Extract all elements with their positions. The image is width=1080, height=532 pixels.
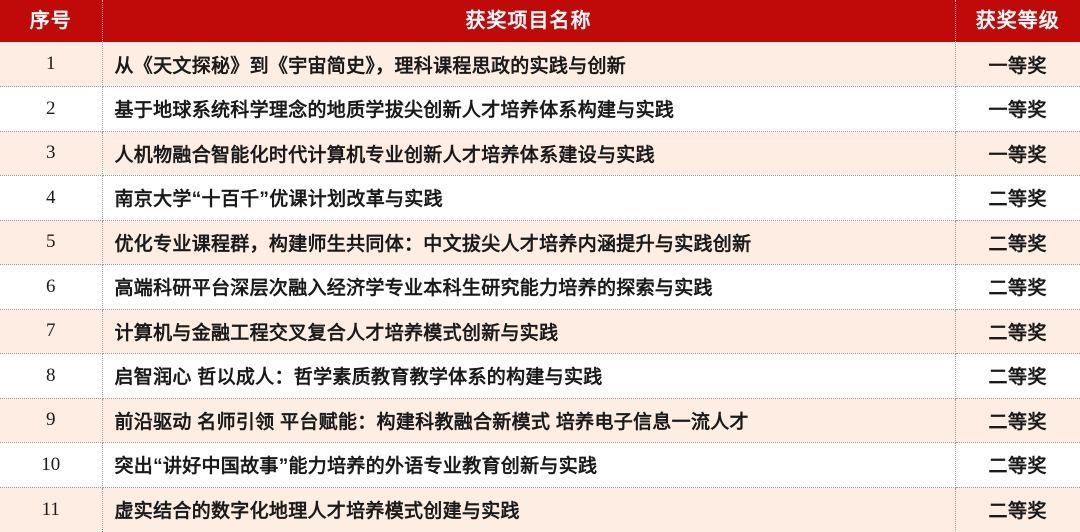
cell-index: 3	[0, 131, 102, 176]
table-row: 2基于地球系统科学理念的地质学拔尖创新人才培养体系构建与实践一等奖	[0, 87, 1080, 132]
table-row: 5优化专业课程群，构建师生共同体：中文拔尖人才培养内涵提升与实践创新二等奖	[0, 220, 1080, 265]
cell-project-name: 突出“讲好中国故事”能力培养的外语专业教育创新与实践	[102, 443, 955, 488]
table-row: 3人机物融合智能化时代计算机专业创新人才培养体系建设与实践一等奖	[0, 131, 1080, 176]
cell-index: 6	[0, 265, 102, 310]
cell-index: 8	[0, 354, 102, 399]
cell-award-level: 一等奖	[955, 87, 1080, 132]
cell-award-level: 二等奖	[955, 176, 1080, 221]
cell-award-level: 二等奖	[955, 309, 1080, 354]
cell-award-level: 二等奖	[955, 265, 1080, 310]
cell-award-level: 二等奖	[955, 487, 1080, 532]
cell-award-level: 二等奖	[955, 220, 1080, 265]
cell-index: 2	[0, 87, 102, 132]
cell-index: 1	[0, 42, 102, 87]
cell-award-level: 二等奖	[955, 354, 1080, 399]
table-row: 10突出“讲好中国故事”能力培养的外语专业教育创新与实践二等奖	[0, 443, 1080, 488]
cell-index: 11	[0, 487, 102, 532]
cell-project-name: 基于地球系统科学理念的地质学拔尖创新人才培养体系构建与实践	[102, 87, 955, 132]
cell-project-name: 前沿驱动 名师引领 平台赋能：构建科教融合新模式 培养电子信息一流人才	[102, 398, 955, 443]
cell-index: 5	[0, 220, 102, 265]
cell-project-name: 虚实结合的数字化地理人才培养模式创建与实践	[102, 487, 955, 532]
cell-award-level: 二等奖	[955, 398, 1080, 443]
table-row: 4南京大学“十百千”优课计划改革与实践二等奖	[0, 176, 1080, 221]
cell-project-name: 计算机与金融工程交叉复合人才培养模式创新与实践	[102, 309, 955, 354]
table-row: 7计算机与金融工程交叉复合人才培养模式创新与实践二等奖	[0, 309, 1080, 354]
cell-index: 10	[0, 443, 102, 488]
table-row: 8启智润心 哲以成人：哲学素质教育教学体系的构建与实践二等奖	[0, 354, 1080, 399]
table-row: 11虚实结合的数字化地理人才培养模式创建与实践二等奖	[0, 487, 1080, 532]
cell-index: 9	[0, 398, 102, 443]
cell-project-name: 从《天文探秘》到《宇宙简史》，理科课程思政的实践与创新	[102, 42, 955, 87]
column-header-project-name: 获奖项目名称	[102, 0, 955, 42]
cell-project-name: 优化专业课程群，构建师生共同体：中文拔尖人才培养内涵提升与实践创新	[102, 220, 955, 265]
cell-project-name: 高端科研平台深层次融入经济学专业本科生研究能力培养的探索与实践	[102, 265, 955, 310]
column-header-index: 序号	[0, 0, 102, 42]
cell-award-level: 一等奖	[955, 42, 1080, 87]
cell-index: 4	[0, 176, 102, 221]
cell-project-name: 启智润心 哲以成人：哲学素质教育教学体系的构建与实践	[102, 354, 955, 399]
table-row: 9前沿驱动 名师引领 平台赋能：构建科教融合新模式 培养电子信息一流人才二等奖	[0, 398, 1080, 443]
table-row: 6高端科研平台深层次融入经济学专业本科生研究能力培养的探索与实践二等奖	[0, 265, 1080, 310]
table-body: 1从《天文探秘》到《宇宙简史》，理科课程思政的实践与创新一等奖2基于地球系统科学…	[0, 42, 1080, 532]
cell-project-name: 南京大学“十百千”优课计划改革与实践	[102, 176, 955, 221]
award-results-table: 序号 获奖项目名称 获奖等级 1从《天文探秘》到《宇宙简史》，理科课程思政的实践…	[0, 0, 1080, 532]
cell-award-level: 一等奖	[955, 131, 1080, 176]
cell-award-level: 二等奖	[955, 443, 1080, 488]
cell-index: 7	[0, 309, 102, 354]
table-header-row: 序号 获奖项目名称 获奖等级	[0, 0, 1080, 42]
cell-project-name: 人机物融合智能化时代计算机专业创新人才培养体系建设与实践	[102, 131, 955, 176]
column-header-award-level: 获奖等级	[955, 0, 1080, 42]
table-header: 序号 获奖项目名称 获奖等级	[0, 0, 1080, 42]
table-row: 1从《天文探秘》到《宇宙简史》，理科课程思政的实践与创新一等奖	[0, 42, 1080, 87]
